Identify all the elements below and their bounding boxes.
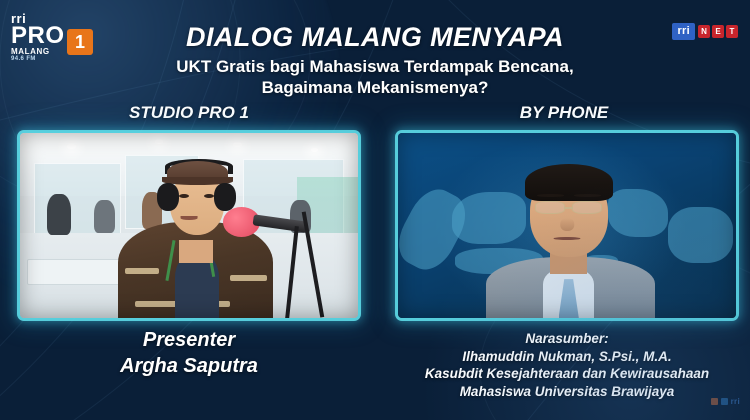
presenter-mouth [181, 216, 198, 220]
guest-position-line-1: Kasubdit Kesejahteraan dan Kewirausahaan [398, 365, 736, 383]
guest-necktie [559, 279, 579, 318]
subtitle-line-1: UKT Gratis bagi Mahasiswa Terdampak Benc… [0, 56, 750, 77]
presenter-neck [179, 240, 213, 262]
watermark-text: rri [731, 397, 740, 406]
guest-eyebrow [574, 194, 601, 197]
presenter-headphone-cup [157, 183, 179, 211]
guest-shoulders [486, 257, 655, 318]
map-island-papua [668, 207, 732, 263]
subtitle-line-2: Bagaimana Mekanismenya? [0, 77, 750, 98]
guest-caption: Narasumber: Ilhamuddin Nukman, S.Psi., M… [398, 330, 736, 400]
guest-role-label: Narasumber: [398, 330, 736, 348]
guest-neck [550, 251, 587, 273]
broadcast-stage: rri PRO MALANG 94.6 FM 1 DIALOG MALANG M… [0, 0, 750, 420]
map-island-small [584, 255, 618, 268]
header: rri PRO MALANG 94.6 FM 1 DIALOG MALANG M… [0, 0, 750, 105]
presenter-headphone-cup [214, 183, 236, 211]
guest-shirt [543, 270, 594, 318]
presenter-jacket-stripe [125, 268, 159, 274]
guest-eyeglass-lens [572, 201, 602, 214]
presenter-jacket-stripe [230, 275, 267, 281]
map-island-sulawesi [608, 189, 669, 237]
studio-background-person [47, 194, 71, 235]
watermark-square-orange [711, 398, 718, 405]
studio-lamp [155, 139, 163, 144]
presenter-name: Argha Saputra [20, 353, 358, 379]
program-subtitle: UKT Gratis bagi Mahasiswa Terdampak Benc… [0, 56, 750, 98]
guest-eyeglass-bridge [565, 207, 573, 209]
rri-watermark: rri [711, 397, 740, 406]
left-panel-label: STUDIO PRO 1 [0, 103, 378, 123]
guest-mouth [553, 237, 580, 240]
net-letter-e: E [712, 25, 724, 38]
rrinet-letter-badges: N E T [698, 25, 738, 38]
studio-desk [27, 259, 128, 285]
guest-eyeglass-lens [535, 201, 565, 214]
guest-nose [560, 218, 574, 231]
guest-map-background [398, 133, 736, 318]
net-letter-n: N [698, 25, 710, 38]
right-panel-label: BY PHONE [378, 103, 750, 123]
map-island-java [455, 248, 543, 274]
presenter-caption: Presenter Argha Saputra [20, 327, 358, 379]
map-island-kalimantan [452, 192, 526, 244]
net-letter-t: T [726, 25, 738, 38]
guest-video-panel[interactable] [398, 133, 736, 318]
studio-background-person [94, 200, 114, 233]
program-title: DIALOG MALANG MENYAPA [0, 22, 750, 53]
rri-net-logo: rri N E T [672, 23, 738, 40]
guest-position-line-2: Mahasiswa Universitas Brawijaya [398, 383, 736, 401]
guest-name: Ilhamuddin Nukman, S.Psi., M.A. [398, 348, 736, 366]
presenter-role: Presenter [20, 327, 358, 353]
watermark-square-blue [721, 398, 728, 405]
rrinet-network-badge: rri [672, 23, 695, 40]
studio-video-panel[interactable] [20, 133, 358, 318]
studio-scene [20, 133, 358, 318]
studio-lamp [311, 148, 318, 152]
